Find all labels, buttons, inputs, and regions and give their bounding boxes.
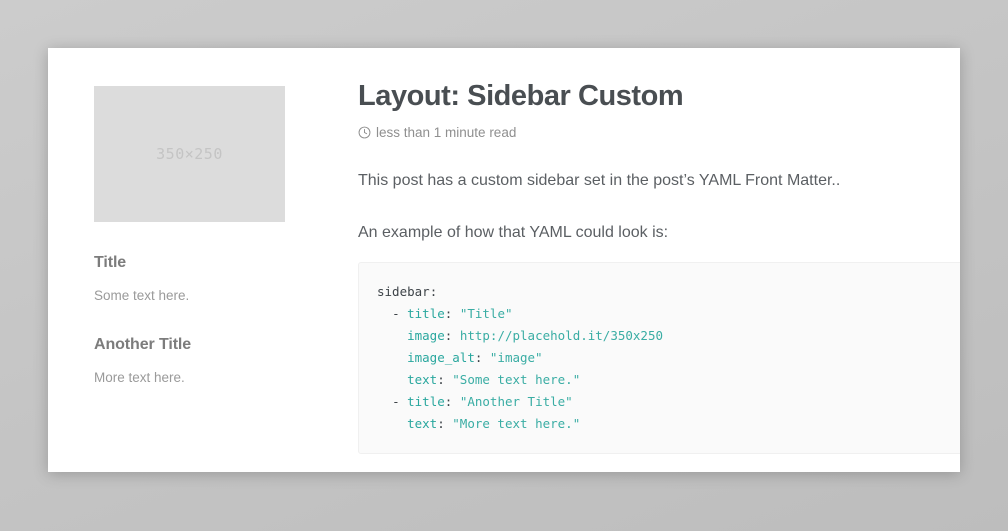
read-time-label: less than 1 minute read [376,125,516,140]
post-content: Layout: Sidebar Custom less than 1 minut… [358,80,960,246]
custom-sidebar: 350×250 Title Some text here. Another Ti… [94,86,286,389]
page-title: Layout: Sidebar Custom [358,80,960,113]
placeholder-image-label: 350×250 [94,145,285,163]
sidebar-text-2: More text here. [94,368,286,388]
post-paragraph-1: This post has a custom sidebar set in th… [358,169,960,194]
post-meta: less than 1 minute read [358,125,960,140]
sidebar-heading-1: Title [94,254,286,272]
post-card: 350×250 Title Some text here. Another Ti… [48,48,960,472]
post-paragraph-2: An example of how that YAML could look i… [358,221,960,246]
sidebar-placeholder-image: 350×250 [94,86,285,222]
yaml-code-block: sidebar: - title: "Title" image: http://… [358,262,960,454]
sidebar-block-2: Another Title More text here. [94,336,286,388]
yaml-code-content: sidebar: - title: "Title" image: http://… [377,281,960,435]
sidebar-heading-2: Another Title [94,336,286,354]
sidebar-block-1: Title Some text here. [94,254,286,306]
sidebar-text-1: Some text here. [94,286,286,306]
clock-icon [358,126,371,139]
